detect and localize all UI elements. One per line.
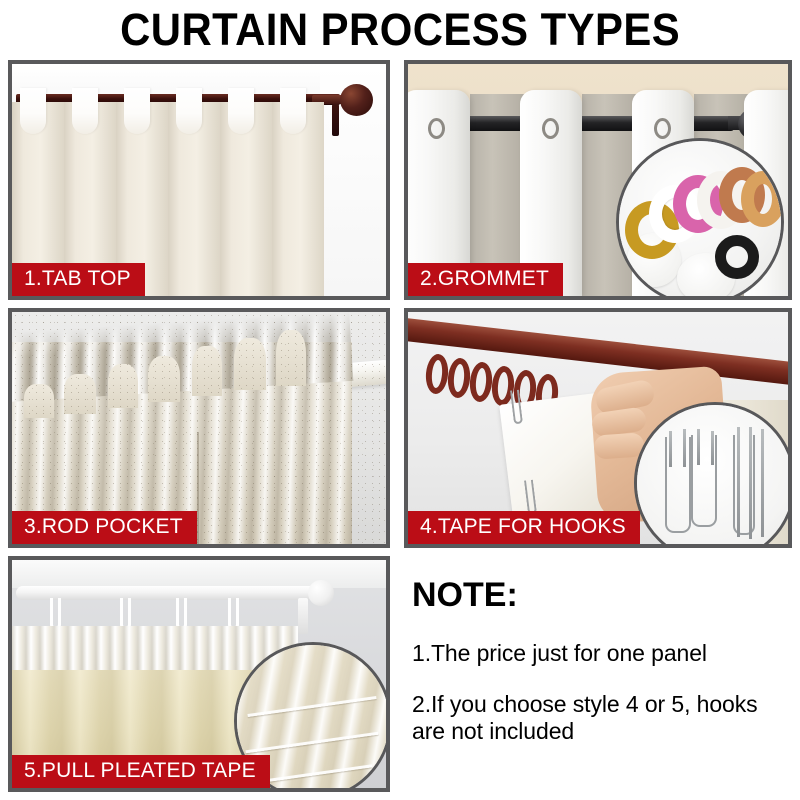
hook-prong — [749, 427, 752, 539]
hook-prong — [761, 429, 764, 537]
gather-peak — [24, 384, 54, 418]
grommet-ring-black — [715, 235, 759, 279]
grommet-eyelet-icon — [428, 118, 445, 139]
panel-pull-pleated-tape[interactable]: 5.PULL PLEATED TAPE — [8, 556, 390, 792]
rod-pocket-scene — [12, 312, 386, 544]
grommet-eyelet-icon — [542, 118, 559, 139]
pleat-hooks-inset — [634, 402, 788, 544]
note-heading: NOTE: — [412, 578, 790, 612]
hook-prong — [683, 429, 686, 467]
hook-prong — [711, 431, 714, 465]
grommet-rings-inset — [616, 138, 784, 296]
hook-prong — [669, 431, 672, 467]
panel-rod-pocket[interactable]: 3.ROD POCKET — [8, 308, 390, 548]
gather-peak — [276, 330, 306, 386]
curtain-rod — [16, 586, 316, 600]
panel-label-tape-for-hooks: 4.TAPE FOR HOOKS — [408, 511, 640, 544]
gather-peak — [108, 364, 138, 408]
tab-loop — [176, 88, 202, 134]
note-line-2: 2.If you choose style 4 or 5, hooks are … — [412, 691, 790, 745]
tab-top-scene — [12, 64, 386, 296]
grommet-scene — [408, 64, 788, 296]
hook-prong — [737, 427, 740, 537]
panel-label-grommet: 2.GROMMET — [408, 263, 563, 296]
panel-label-pull-pleated-tape: 5.PULL PLEATED TAPE — [12, 755, 270, 788]
tab-loop — [228, 88, 254, 134]
tab-loop — [72, 88, 98, 134]
rod-bracket — [298, 598, 308, 634]
tape-for-hooks-scene — [408, 312, 788, 544]
panel-label-rod-pocket: 3.ROD POCKET — [12, 511, 197, 544]
panel-seam — [197, 432, 199, 544]
rod-bracket — [332, 104, 339, 136]
gather-peak — [64, 374, 96, 414]
page-title: CURTAIN PROCESS TYPES — [120, 7, 680, 52]
panel-tape-for-hooks[interactable]: 4.TAPE FOR HOOKS — [404, 308, 792, 548]
tab-loop — [20, 88, 46, 134]
tab-loop — [124, 88, 150, 134]
panel-label-tab-top: 1.TAB TOP — [12, 263, 145, 296]
gather-peak — [192, 346, 222, 396]
rod-finial-icon — [308, 580, 334, 606]
panel-tab-top[interactable]: 1.TAB TOP — [8, 60, 390, 300]
grommet-ring-tan — [741, 171, 784, 227]
gather-peak — [234, 338, 266, 390]
title-bar: CURTAIN PROCESS TYPES — [0, 0, 800, 58]
rod-finial-icon — [340, 84, 373, 116]
panel-grommet[interactable]: 2.GROMMET — [404, 60, 792, 300]
tab-loop — [280, 88, 306, 134]
hook-prong — [697, 429, 700, 465]
pull-pleated-tape-scene — [12, 560, 386, 788]
note-line-1: 1.The price just for one panel — [412, 640, 790, 667]
note-section: NOTE: 1.The price just for one panel 2.I… — [404, 556, 796, 792]
grommet-eyelet-icon — [654, 118, 671, 139]
curtain-process-types-infographic: CURTAIN PROCESS TYPES 1.TAB TOP — [0, 0, 800, 800]
gather-peak — [148, 356, 180, 402]
